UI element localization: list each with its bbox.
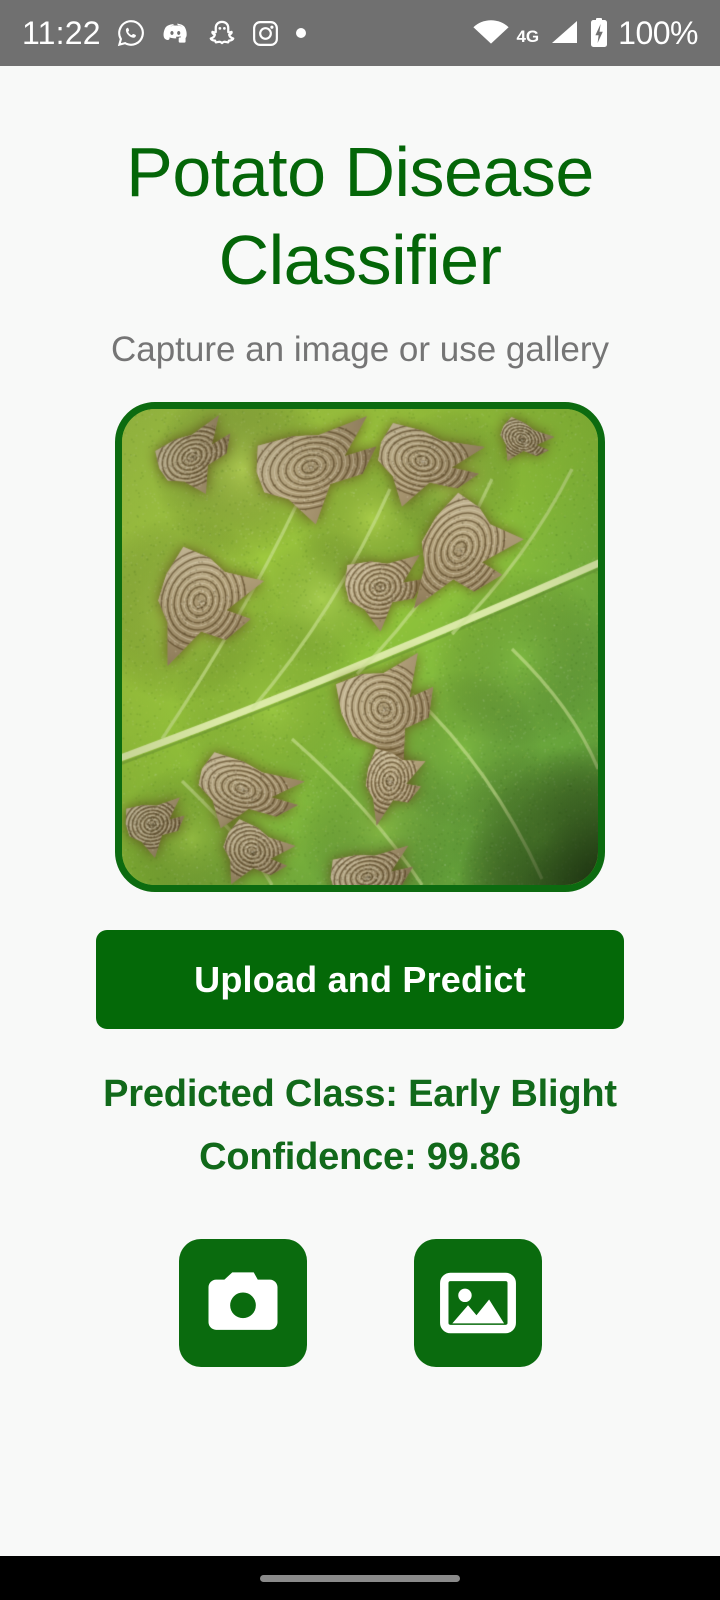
- app-screen: Potato Disease Classifier Capture an ima…: [0, 66, 720, 1600]
- leaf-image: [122, 409, 598, 885]
- status-bar: 11:22: [0, 0, 720, 66]
- network-type-label: 4G: [516, 27, 539, 47]
- wifi-icon: [472, 18, 510, 48]
- predicted-class-text: Predicted Class: Early Blight: [103, 1063, 617, 1126]
- upload-and-predict-button[interactable]: Upload and Predict: [96, 930, 624, 1029]
- action-button-row: [179, 1239, 542, 1367]
- status-clock: 11:22: [22, 15, 101, 52]
- camera-icon: [197, 1257, 289, 1349]
- instagram-icon: [251, 19, 280, 48]
- gesture-pill[interactable]: [260, 1575, 460, 1582]
- cellular-signal-icon: [548, 18, 580, 48]
- camera-button[interactable]: [179, 1239, 307, 1367]
- system-navigation-bar: [0, 1556, 720, 1600]
- gallery-button[interactable]: [414, 1239, 542, 1367]
- image-icon: [432, 1257, 524, 1349]
- battery-percentage: 100%: [618, 15, 698, 52]
- page-title: Potato Disease Classifier: [50, 128, 670, 304]
- status-bar-left-group: 11:22: [22, 15, 307, 52]
- upload-button-label: Upload and Predict: [194, 959, 526, 1001]
- discord-icon: [161, 18, 193, 48]
- snapchat-icon: [208, 18, 236, 48]
- status-bar-right-group: 4G 100%: [472, 15, 698, 52]
- battery-charging-icon: [589, 17, 609, 49]
- prediction-result: Predicted Class: Early Blight Confidence…: [103, 1063, 617, 1188]
- dot-icon: [295, 27, 307, 39]
- potato-leaf-preview[interactable]: [115, 402, 605, 892]
- whatsapp-icon: [116, 18, 146, 48]
- confidence-text: Confidence: 99.86: [103, 1126, 617, 1189]
- page-subtitle: Capture an image or use gallery: [111, 330, 609, 370]
